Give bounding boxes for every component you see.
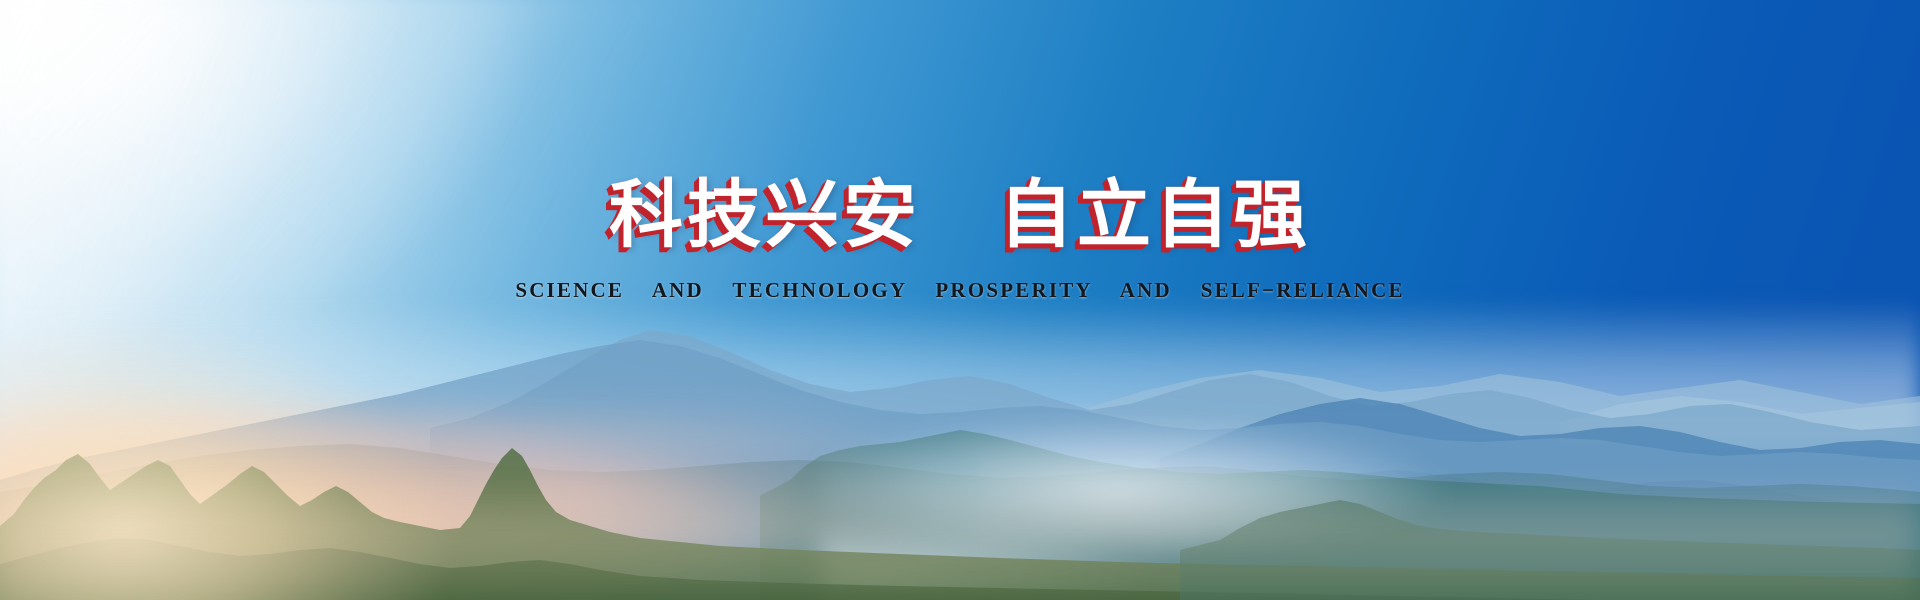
hero-banner: 科技兴安 自立自强 SCIENCE AND TECHNOLOGY PROSPER… — [0, 0, 1920, 600]
banner-subtitle: SCIENCE AND TECHNOLOGY PROSPERITY AND SE… — [0, 278, 1920, 303]
banner-text-block: 科技兴安 自立自强 SCIENCE AND TECHNOLOGY PROSPER… — [0, 178, 1920, 303]
low-mist — [0, 480, 1920, 600]
banner-headline: 科技兴安 自立自强 — [609, 178, 1311, 252]
